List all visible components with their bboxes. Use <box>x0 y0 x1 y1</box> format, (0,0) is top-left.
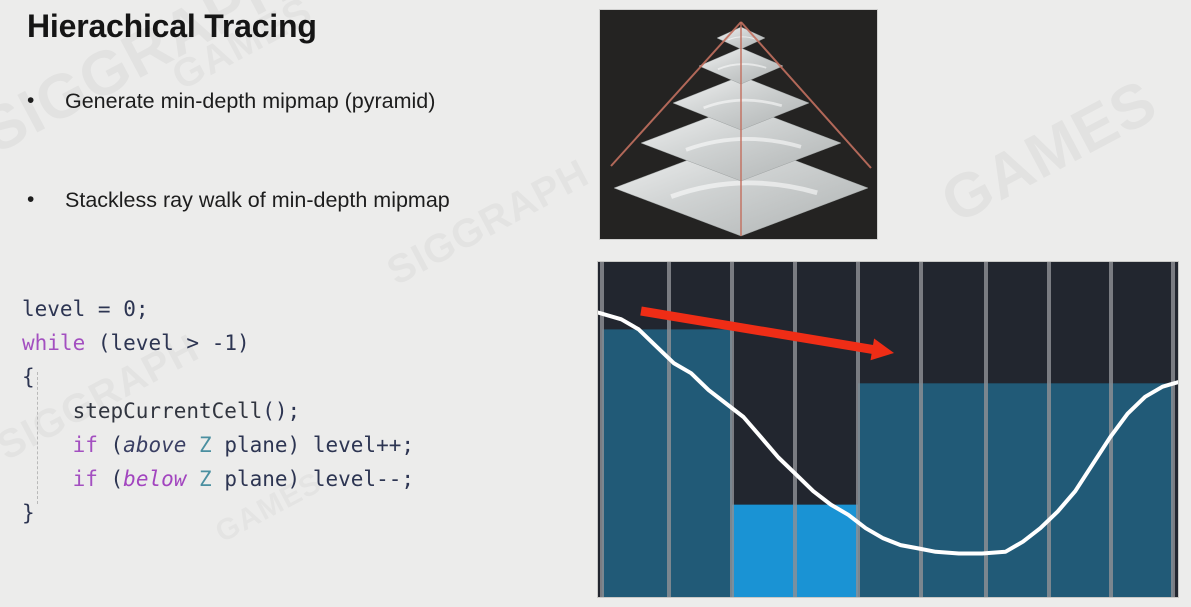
code-line: { <box>22 360 414 394</box>
code-token: Z <box>199 433 212 457</box>
code-token: ( <box>85 331 110 355</box>
mipmap-traversal-chart <box>597 261 1179 598</box>
code-token: (); <box>262 399 300 423</box>
chart-cell-6 <box>986 383 1049 598</box>
code-line: if (below Z plane) level--; <box>22 462 414 496</box>
code-line: if (above Z plane) level++; <box>22 428 414 462</box>
code-token: plane) <box>212 433 313 457</box>
code-token: -1 <box>212 331 237 355</box>
code-snippet: level = 0;while (level > -1){ stepCurren… <box>22 292 414 530</box>
code-token: if <box>73 467 98 491</box>
mipmap-traversal-graphic <box>598 262 1179 598</box>
page-title: Hierachical Tracing <box>27 8 317 45</box>
code-token: { <box>22 365 35 389</box>
chart-cell-4 <box>858 383 921 598</box>
mipmap-pyramid-figure <box>599 9 878 240</box>
code-token: plane) <box>212 467 313 491</box>
code-token: ; <box>136 297 149 321</box>
code-line: while (level > -1) <box>22 326 414 360</box>
code-token: ( <box>98 433 123 457</box>
code-token: --; <box>376 467 414 491</box>
code-token: 0 <box>123 297 136 321</box>
bullet-label: Generate min-depth mipmap (pyramid) <box>65 88 435 115</box>
code-token <box>186 467 199 491</box>
watermark-text: GAMES <box>930 66 1168 238</box>
bullet-marker-icon: • <box>27 88 65 114</box>
code-token <box>111 297 124 321</box>
chart-cell-3 <box>795 505 858 598</box>
mipmap-pyramid-graphic <box>600 10 878 240</box>
code-token: Z <box>199 467 212 491</box>
chart-gridline-9 <box>1171 262 1175 598</box>
code-token <box>186 433 199 457</box>
chart-gridline-8 <box>1109 262 1113 598</box>
code-token: = <box>98 297 111 321</box>
code-token <box>199 331 212 355</box>
pyramid-outline <box>611 22 871 236</box>
chart-gridline-7 <box>1047 262 1051 598</box>
slide-left-pane: Hierachical Tracing • Generate min-depth… <box>0 0 595 607</box>
bullet-marker-icon: • <box>27 187 65 213</box>
code-token: if <box>73 433 98 457</box>
code-line: } <box>22 496 414 530</box>
chart-cell-2 <box>732 505 795 598</box>
bullet-label: Stackless ray walk of min-depth mipmap <box>65 187 450 214</box>
bullet-item-1: • Stackless ray walk of min-depth mipmap <box>27 187 450 214</box>
chart-cell-7 <box>1049 383 1111 598</box>
chart-gridline-6 <box>984 262 988 598</box>
chart-gridline-3 <box>793 262 797 598</box>
code-token: stepCurrentCell <box>73 399 263 423</box>
chart-cell-0 <box>602 329 669 598</box>
chart-gridline-4 <box>856 262 860 598</box>
chart-cell-8 <box>1111 383 1173 598</box>
code-token <box>22 433 73 457</box>
code-token: level <box>313 433 376 457</box>
code-line: level = 0; <box>22 292 414 326</box>
chart-cell-1 <box>669 329 732 598</box>
code-token <box>22 467 73 491</box>
code-token: level <box>22 297 85 321</box>
code-token: ) <box>237 331 250 355</box>
code-token <box>174 331 187 355</box>
code-token: level <box>313 467 376 491</box>
code-token: level <box>111 331 174 355</box>
code-token: above <box>123 433 186 457</box>
code-line: stepCurrentCell(); <box>22 394 414 428</box>
code-token <box>22 399 73 423</box>
chart-gridline-2 <box>730 262 734 598</box>
bullet-item-0: • Generate min-depth mipmap (pyramid) <box>27 88 435 115</box>
code-token: ++; <box>376 433 414 457</box>
chart-cell-5 <box>921 383 986 598</box>
code-token <box>85 297 98 321</box>
code-token: ( <box>98 467 123 491</box>
code-token: } <box>22 501 35 525</box>
code-token: while <box>22 331 85 355</box>
code-token: below <box>123 467 186 491</box>
code-token: > <box>186 331 199 355</box>
